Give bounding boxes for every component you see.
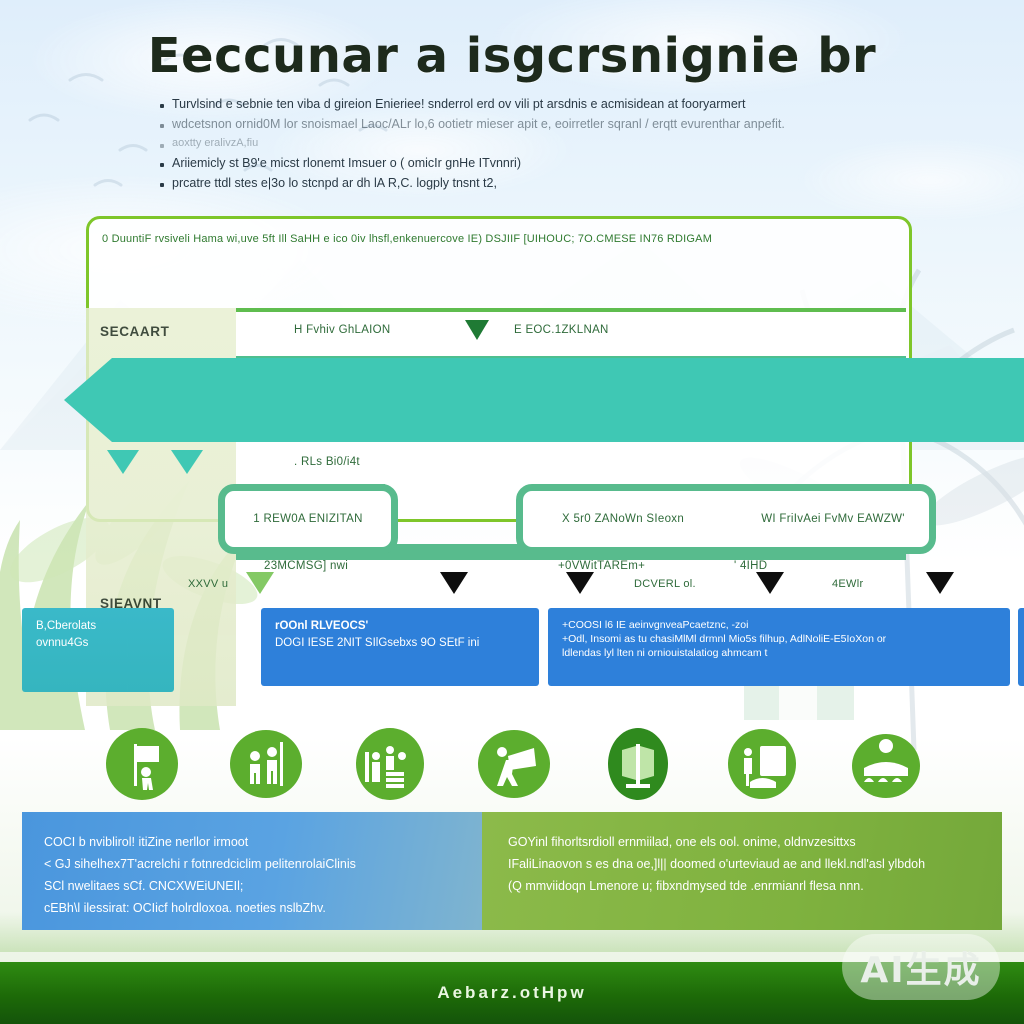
row1-marker-icon (464, 318, 490, 342)
summary-left-line-4: cEBh\l ilessirat: OCIicf holrdloxoa. noe… (44, 898, 460, 920)
bullet-marker-icon (160, 163, 164, 167)
callout-box-2-line-1: +COOSI l6 IE aeinvgnveaPcaetznc, -zoi (562, 618, 996, 632)
callout-box-1[interactable]: rOOnl RLVEOCS' DOGI IESE 2NIT SIlGsebxs … (261, 608, 539, 686)
summary-right-line-3: (Q mmviidoqn Lmenore u; fibxndmysed tde … (508, 876, 976, 898)
marker-arrow-3 (566, 572, 594, 594)
row1-cell-2: E EOC.1ZKLNAN (514, 324, 609, 336)
bullet-text: Ariiemicly st B9'e micst rlonemt Imsuer … (172, 157, 521, 170)
process-box-1-label: 1 REW0A ENIZITAN (225, 513, 391, 525)
leaf-book-icon[interactable] (600, 726, 676, 802)
callout-box-0-line-2: ovnnu4Gs (36, 635, 160, 652)
person-banner-icon[interactable] (476, 726, 552, 802)
summary-left-line-1: COCI b nviblirol! itiZine nerllor irmoot (44, 832, 460, 854)
row3-cell-1: . RLs Bi0/i4t (294, 456, 360, 468)
two-people-icon[interactable] (228, 726, 304, 802)
marker-label-3: 4EWlr (832, 578, 863, 590)
bullet-text: Turvlsind e sebnie ten viba d gireion En… (172, 98, 745, 111)
callout-box-1-line-1: rOOnl RLVEOCS' (275, 618, 525, 635)
process-box-2-label: X 5r0 ZANoWn SIeoxn (523, 513, 723, 525)
bullet-item: prcatre ttdl stes e|3o lo stcnpd ar dh l… (160, 177, 920, 190)
summary-right-line-2: IFaliLinaovon s es dna oe,]l|| doomed o'… (508, 854, 976, 876)
marker-arrow-4 (756, 572, 784, 594)
callout-box-2-line-3: ldlendas lyl lten ni orniouistalatiog ah… (562, 646, 996, 660)
people-stairs-icon[interactable] (352, 726, 428, 802)
bullet-item: wdcetsnon ornid0M lor snoismael Laoc/ALr… (160, 118, 920, 131)
bullet-item: Turvlsind e sebnie ten viba d gireion En… (160, 98, 920, 111)
process-diagram: 0 DuuntiF rvsiveli Hama wi,uve 5ft Ill S… (86, 216, 906, 706)
summary-left-line-2: < GJ sihelhex7T'acrelchi r fotnredciclim… (44, 854, 460, 876)
marker-arrow-2 (440, 572, 468, 594)
header-bullet-list: Turvlsind e sebnie ten viba d gireion En… (160, 98, 920, 197)
ai-generated-badge: AI生成 (842, 934, 1000, 1000)
callout-box-0-line-1: B,Cberolats (36, 618, 160, 635)
icon-strip (104, 718, 924, 810)
callout-box-0[interactable]: B,Cberolats ovnnu4Gs (22, 608, 174, 692)
process-box-1[interactable]: 1 REW0A ENIZITAN (218, 484, 398, 554)
diagram-header-caption: 0 DuuntiF rvsiveli Hama wi,uve 5ft Ill S… (86, 222, 906, 256)
footer-text: Aebarz.otHpw (437, 983, 586, 1003)
marker-label-2: DCVERL ol. (634, 578, 696, 590)
process-box-3-label: WI FriIvAei FvMv EAWZW' (733, 513, 933, 525)
callout-box-3[interactable]: SI 25IMDE (1018, 608, 1024, 686)
person-flag-icon[interactable] (104, 726, 180, 802)
bullet-text: prcatre ttdl stes e|3o lo stcnpd ar dh l… (172, 177, 497, 190)
bullet-text: wdcetsnon ornid0M lor snoismael Laoc/ALr… (172, 118, 785, 131)
bullet-item: aoxtty eralivzA,fiu (160, 138, 920, 150)
marker-arrow-5 (926, 572, 954, 594)
process-box-2[interactable]: X 5r0 ZANoWn SIeoxn WI FriIvAei FvMv EAW… (516, 484, 936, 554)
page-title: Eeccunar a isgcrsnignie br (0, 28, 1024, 84)
summary-panel-left: COCI b nviblirol! itiZine nerllor irmoot… (22, 812, 482, 930)
callout-box-1-line-2: DOGI IESE 2NIT SIlGsebxs 9O SEtF ini (275, 635, 525, 652)
marker-label-1: XXVV u (188, 578, 228, 590)
bullet-text: aoxtty eralivzA,fiu (172, 138, 258, 150)
main-flow-arrow (64, 356, 1024, 444)
sub-arrow-icon-2 (170, 448, 204, 476)
summary-right-line-1: GOYinl fihorltsrdioll ernmiilad, one els… (508, 832, 976, 854)
group-seated-icon[interactable] (848, 726, 924, 802)
callout-box-2-line-2: +Odl, Insomi as tu chasiMlMl drmnl Mio5s… (562, 632, 996, 646)
bullet-marker-icon (160, 124, 164, 128)
row1-cell-1: H Fvhiv GhLAION (294, 324, 391, 336)
bullet-marker-icon (160, 104, 164, 108)
bullet-marker-icon (160, 183, 164, 187)
bullet-marker-icon (160, 144, 164, 148)
person-board-icon[interactable] (724, 726, 800, 802)
marker-arrow-row: XXVV u DCVERL ol. 4EWlr (236, 568, 1024, 606)
summary-panels: COCI b nviblirol! itiZine nerllor irmoot… (22, 812, 1002, 930)
callout-box-2[interactable]: +COOSI l6 IE aeinvgnveaPcaetznc, -zoi +O… (548, 608, 1010, 686)
summary-left-line-3: SCl nwelitaes sCf. CNCXWEiUNEIl; (44, 876, 460, 898)
swimlane-label-secaart: SECAART (100, 324, 169, 339)
sub-arrow-icon-1 (106, 448, 140, 476)
summary-panel-right: GOYinl fihorltsrdioll ernmiilad, one els… (482, 812, 1002, 930)
marker-arrow-1 (246, 572, 274, 594)
bullet-item: Ariiemicly st B9'e micst rlonemt Imsuer … (160, 157, 920, 170)
